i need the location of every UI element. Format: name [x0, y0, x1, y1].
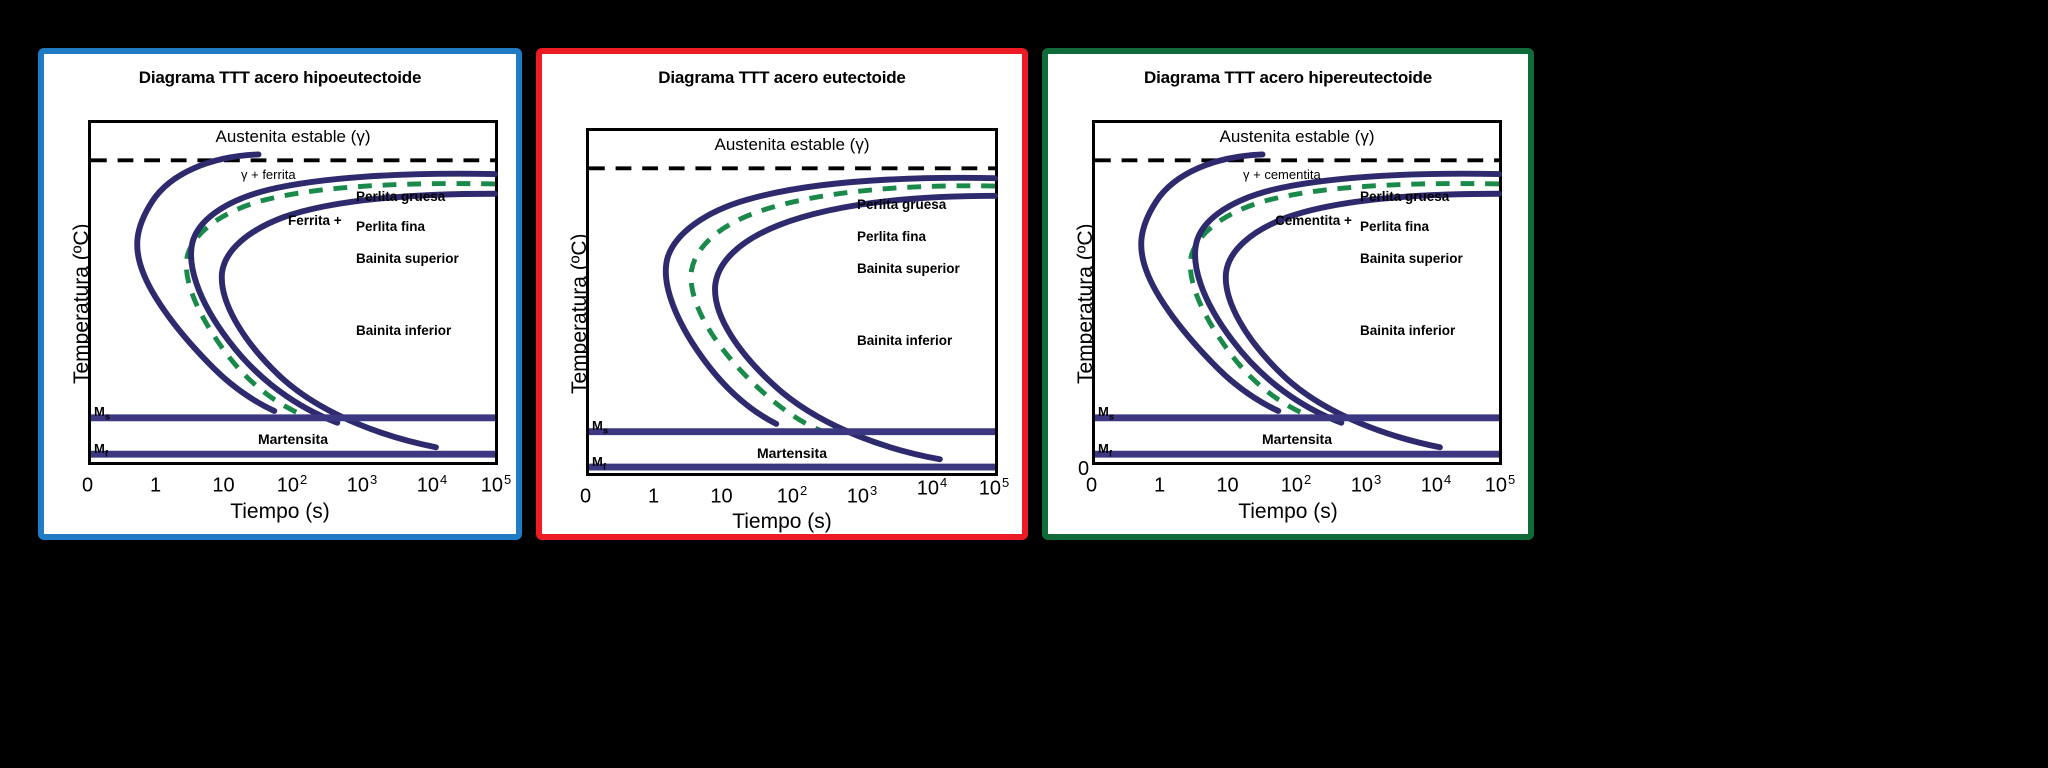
panel-title: Diagrama TTT acero hipereutectoide [1048, 68, 1528, 88]
x-tick-2: 10 [1216, 472, 1239, 498]
x-tick-base: 10 [1351, 475, 1373, 497]
label-bainita-superior: Bainita superior [857, 261, 960, 276]
label-perlita-fina: Perlita fina [857, 229, 926, 244]
x-tick-5: 104 [417, 472, 447, 498]
label-mf: Mf [1098, 441, 1112, 460]
ms-subscript: s [105, 412, 110, 423]
label-bainita-superior: Bainita superior [1360, 251, 1463, 266]
label-austenita-estable: Austenita estable (γ) [715, 135, 870, 155]
x-tick-1: 1 [1154, 472, 1166, 498]
x-tick-exp: 2 [800, 483, 807, 498]
x-tick-base: 10 [212, 475, 234, 497]
x-tick-exp: 5 [1508, 472, 1515, 487]
x-tick-base: 10 [1216, 475, 1238, 497]
label-perlita-fina: Perlita fina [356, 219, 425, 234]
x-tick-base: 0 [580, 486, 591, 508]
x-tick-base: 0 [1086, 475, 1097, 497]
x-tick-base: 10 [1281, 475, 1303, 497]
x-axis-title: Tiempo (s) [44, 500, 516, 524]
transformation-finish-curve [715, 196, 995, 459]
x-tick-base: 10 [847, 486, 869, 508]
label-martensita: Martensita [757, 445, 827, 461]
x-tick-base: 10 [347, 475, 369, 497]
x-tick-exp: 3 [1374, 472, 1381, 487]
label-perlita-gruesa: Perlita gruesa [857, 197, 946, 212]
x-tick-3: 102 [777, 483, 807, 509]
ms-base: M [94, 404, 105, 419]
label-bainita-superior: Bainita superior [356, 251, 459, 266]
x-tick-base: 10 [1485, 475, 1507, 497]
panel-hipoeutectoide[interactable]: Diagrama TTT acero hipoeutectoide Temper… [38, 48, 522, 540]
label-martensita: Martensita [1262, 431, 1332, 447]
x-tick-base: 10 [777, 486, 799, 508]
x-tick-base: 10 [417, 475, 439, 497]
panel-hipereutectoide[interactable]: Diagrama TTT acero hipereutectoide Tempe… [1042, 48, 1534, 540]
x-tick-3: 102 [277, 472, 307, 498]
label-constituent-prefix: Cementita + [1275, 213, 1352, 228]
x-tick-exp: 4 [940, 475, 947, 490]
label-constituent-prefix: Ferrita + [288, 213, 342, 228]
x-tick-exp: 2 [300, 472, 307, 487]
ms-subscript: s [603, 426, 608, 437]
ttt-diagrams-figure: Diagrama TTT acero hipoeutectoide Temper… [0, 0, 2048, 768]
x-tick-2: 10 [212, 472, 235, 498]
label-gamma-phase-pair: γ + cementita [1243, 167, 1321, 182]
x-tick-3: 102 [1281, 472, 1311, 498]
label-ms: Ms [1098, 404, 1114, 423]
mf-base: M [592, 454, 603, 469]
x-tick-1: 1 [648, 483, 660, 509]
x-tick-0: 0 [1086, 472, 1098, 498]
mf-subscript: f [603, 462, 606, 473]
x-tick-base: 10 [277, 475, 299, 497]
label-martensita: Martensita [258, 431, 328, 447]
x-tick-4: 103 [847, 483, 877, 509]
panel-eutectoide[interactable]: Diagrama TTT acero eutectoide Temperatur… [536, 48, 1028, 540]
x-tick-6: 105 [1485, 472, 1515, 498]
ms-base: M [592, 418, 603, 433]
label-mf: Mf [592, 454, 606, 473]
label-ms: Ms [94, 404, 110, 423]
mf-base: M [94, 441, 105, 456]
label-bainita-inferior: Bainita inferior [1360, 323, 1455, 338]
label-bainita-inferior: Bainita inferior [857, 333, 952, 348]
mf-base: M [1098, 441, 1109, 456]
label-mf: Mf [94, 441, 108, 460]
mf-subscript: f [1109, 449, 1112, 460]
x-tick-4: 103 [1351, 472, 1381, 498]
x-tick-exp: 5 [504, 472, 511, 487]
label-ms: Ms [592, 418, 608, 437]
x-tick-base: 10 [979, 478, 1001, 500]
x-axis-title: Tiempo (s) [542, 510, 1022, 534]
label-perlita-fina: Perlita fina [1360, 219, 1429, 234]
x-tick-exp: 5 [1002, 475, 1009, 490]
x-tick-6: 105 [979, 475, 1009, 501]
x-tick-1: 1 [150, 472, 162, 498]
ms-subscript: s [1109, 412, 1114, 423]
label-austenita-estable: Austenita estable (γ) [216, 127, 371, 147]
plot-area: Austenita estable (γ) γ + ferrita Ferrit… [88, 120, 498, 465]
x-tick-base: 10 [481, 475, 503, 497]
x-tick-base: 0 [82, 475, 93, 497]
x-tick-0: 0 [580, 483, 592, 509]
label-bainita-inferior: Bainita inferior [356, 323, 451, 338]
x-tick-base: 10 [710, 486, 732, 508]
x-tick-2: 10 [710, 483, 733, 509]
x-tick-base: 10 [917, 478, 939, 500]
x-tick-base: 1 [150, 475, 161, 497]
x-tick-exp: 4 [1444, 472, 1451, 487]
x-tick-exp: 4 [440, 472, 447, 487]
label-gamma-phase-pair: γ + ferrita [241, 167, 296, 182]
plot-area: Austenita estable (γ) Perlita gruesa Per… [586, 128, 998, 476]
x-tick-5: 104 [1421, 472, 1451, 498]
x-tick-exp: 2 [1304, 472, 1311, 487]
panel-title: Diagrama TTT acero hipoeutectoide [44, 68, 516, 88]
panel-title: Diagrama TTT acero eutectoide [542, 68, 1022, 88]
label-austenita-estable: Austenita estable (γ) [1220, 127, 1375, 147]
x-tick-exp: 3 [370, 472, 377, 487]
mf-subscript: f [105, 449, 108, 460]
x-tick-base: 10 [1421, 475, 1443, 497]
x-tick-base: 1 [648, 486, 659, 508]
plot-area: Austenita estable (γ) γ + cementita Ceme… [1092, 120, 1502, 465]
ms-base: M [1098, 404, 1109, 419]
label-perlita-gruesa: Perlita gruesa [1360, 189, 1449, 204]
x-tick-5: 104 [917, 475, 947, 501]
x-tick-4: 103 [347, 472, 377, 498]
ttt-curves-svg [589, 131, 995, 473]
x-axis-title: Tiempo (s) [1048, 500, 1528, 524]
x-tick-6: 105 [481, 472, 511, 498]
x-tick-exp: 3 [870, 483, 877, 498]
x-tick-0: 0 [82, 472, 94, 498]
label-perlita-gruesa: Perlita gruesa [356, 189, 445, 204]
x-tick-base: 1 [1154, 475, 1165, 497]
